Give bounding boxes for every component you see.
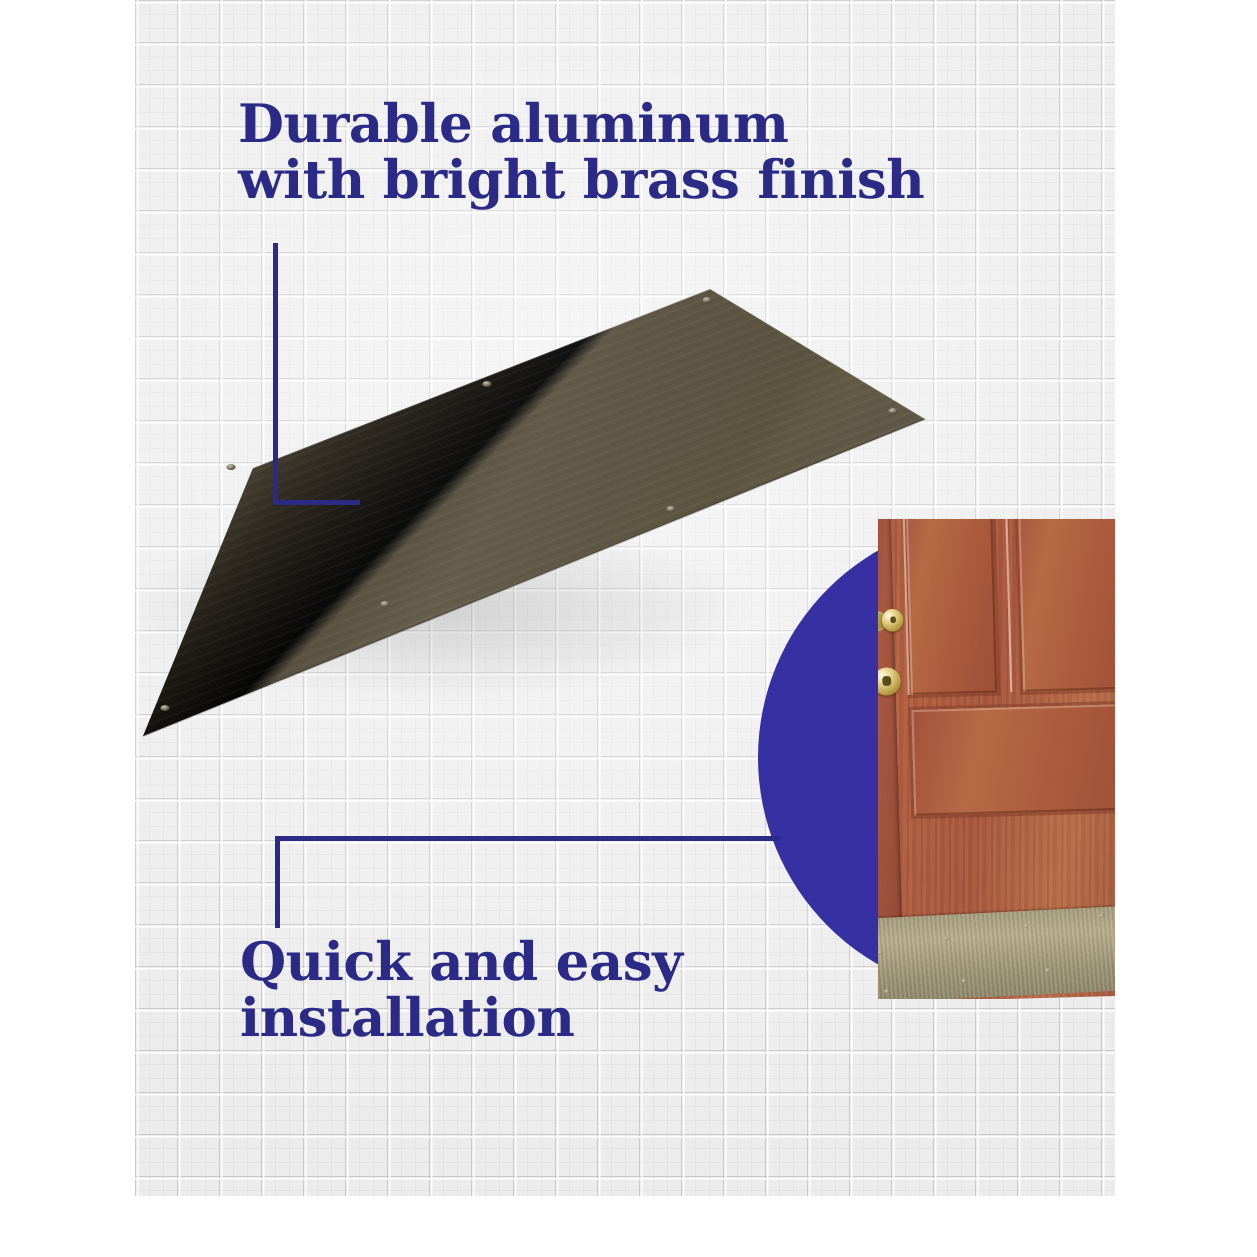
mounted-kick-plate xyxy=(878,905,1115,999)
door-panel-top-left xyxy=(904,519,997,695)
screw-icon xyxy=(944,936,949,941)
screw-icon xyxy=(884,989,889,994)
screw-icon xyxy=(1045,968,1050,973)
screw-icon xyxy=(962,979,967,984)
deadbolt-icon xyxy=(878,667,901,696)
callout-leader-vertical-bottom xyxy=(275,836,280,928)
door-photo xyxy=(878,519,1115,999)
door-panel-bottom xyxy=(911,704,1115,816)
screw-icon xyxy=(878,950,883,955)
callout-text-durability: Durable aluminum with bright brass finis… xyxy=(238,96,924,208)
knob-keyhole xyxy=(890,616,896,623)
infographic-canvas: Durable aluminum with bright brass finis… xyxy=(0,0,1257,1257)
callout-leader-horizontal-bottom xyxy=(275,836,780,841)
callout-leader-horizontal-top xyxy=(273,500,360,505)
screw-icon xyxy=(1099,914,1104,919)
door-knob-icon xyxy=(878,609,903,634)
callout-leader-vertical-top xyxy=(273,243,278,505)
door-panel-top-right xyxy=(1016,519,1115,692)
screw-icon xyxy=(1024,924,1029,929)
deadbolt-keyhole xyxy=(882,676,891,686)
callout-text-installation: Quick and easy installation xyxy=(240,934,682,1046)
